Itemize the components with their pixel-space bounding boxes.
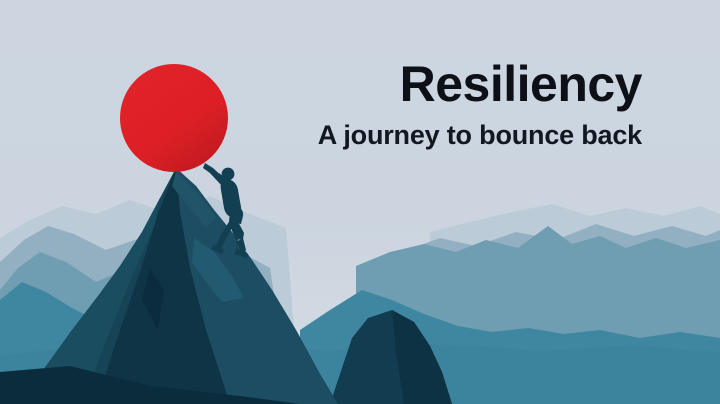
page-subtitle: A journey to bounce back [82,121,642,151]
resiliency-title-slide: Resiliency A journey to bounce back [0,0,720,404]
page-title: Resiliency [82,58,642,111]
headline-block: Resiliency A journey to bounce back [82,58,642,150]
person-pushing-boulder [203,163,248,258]
